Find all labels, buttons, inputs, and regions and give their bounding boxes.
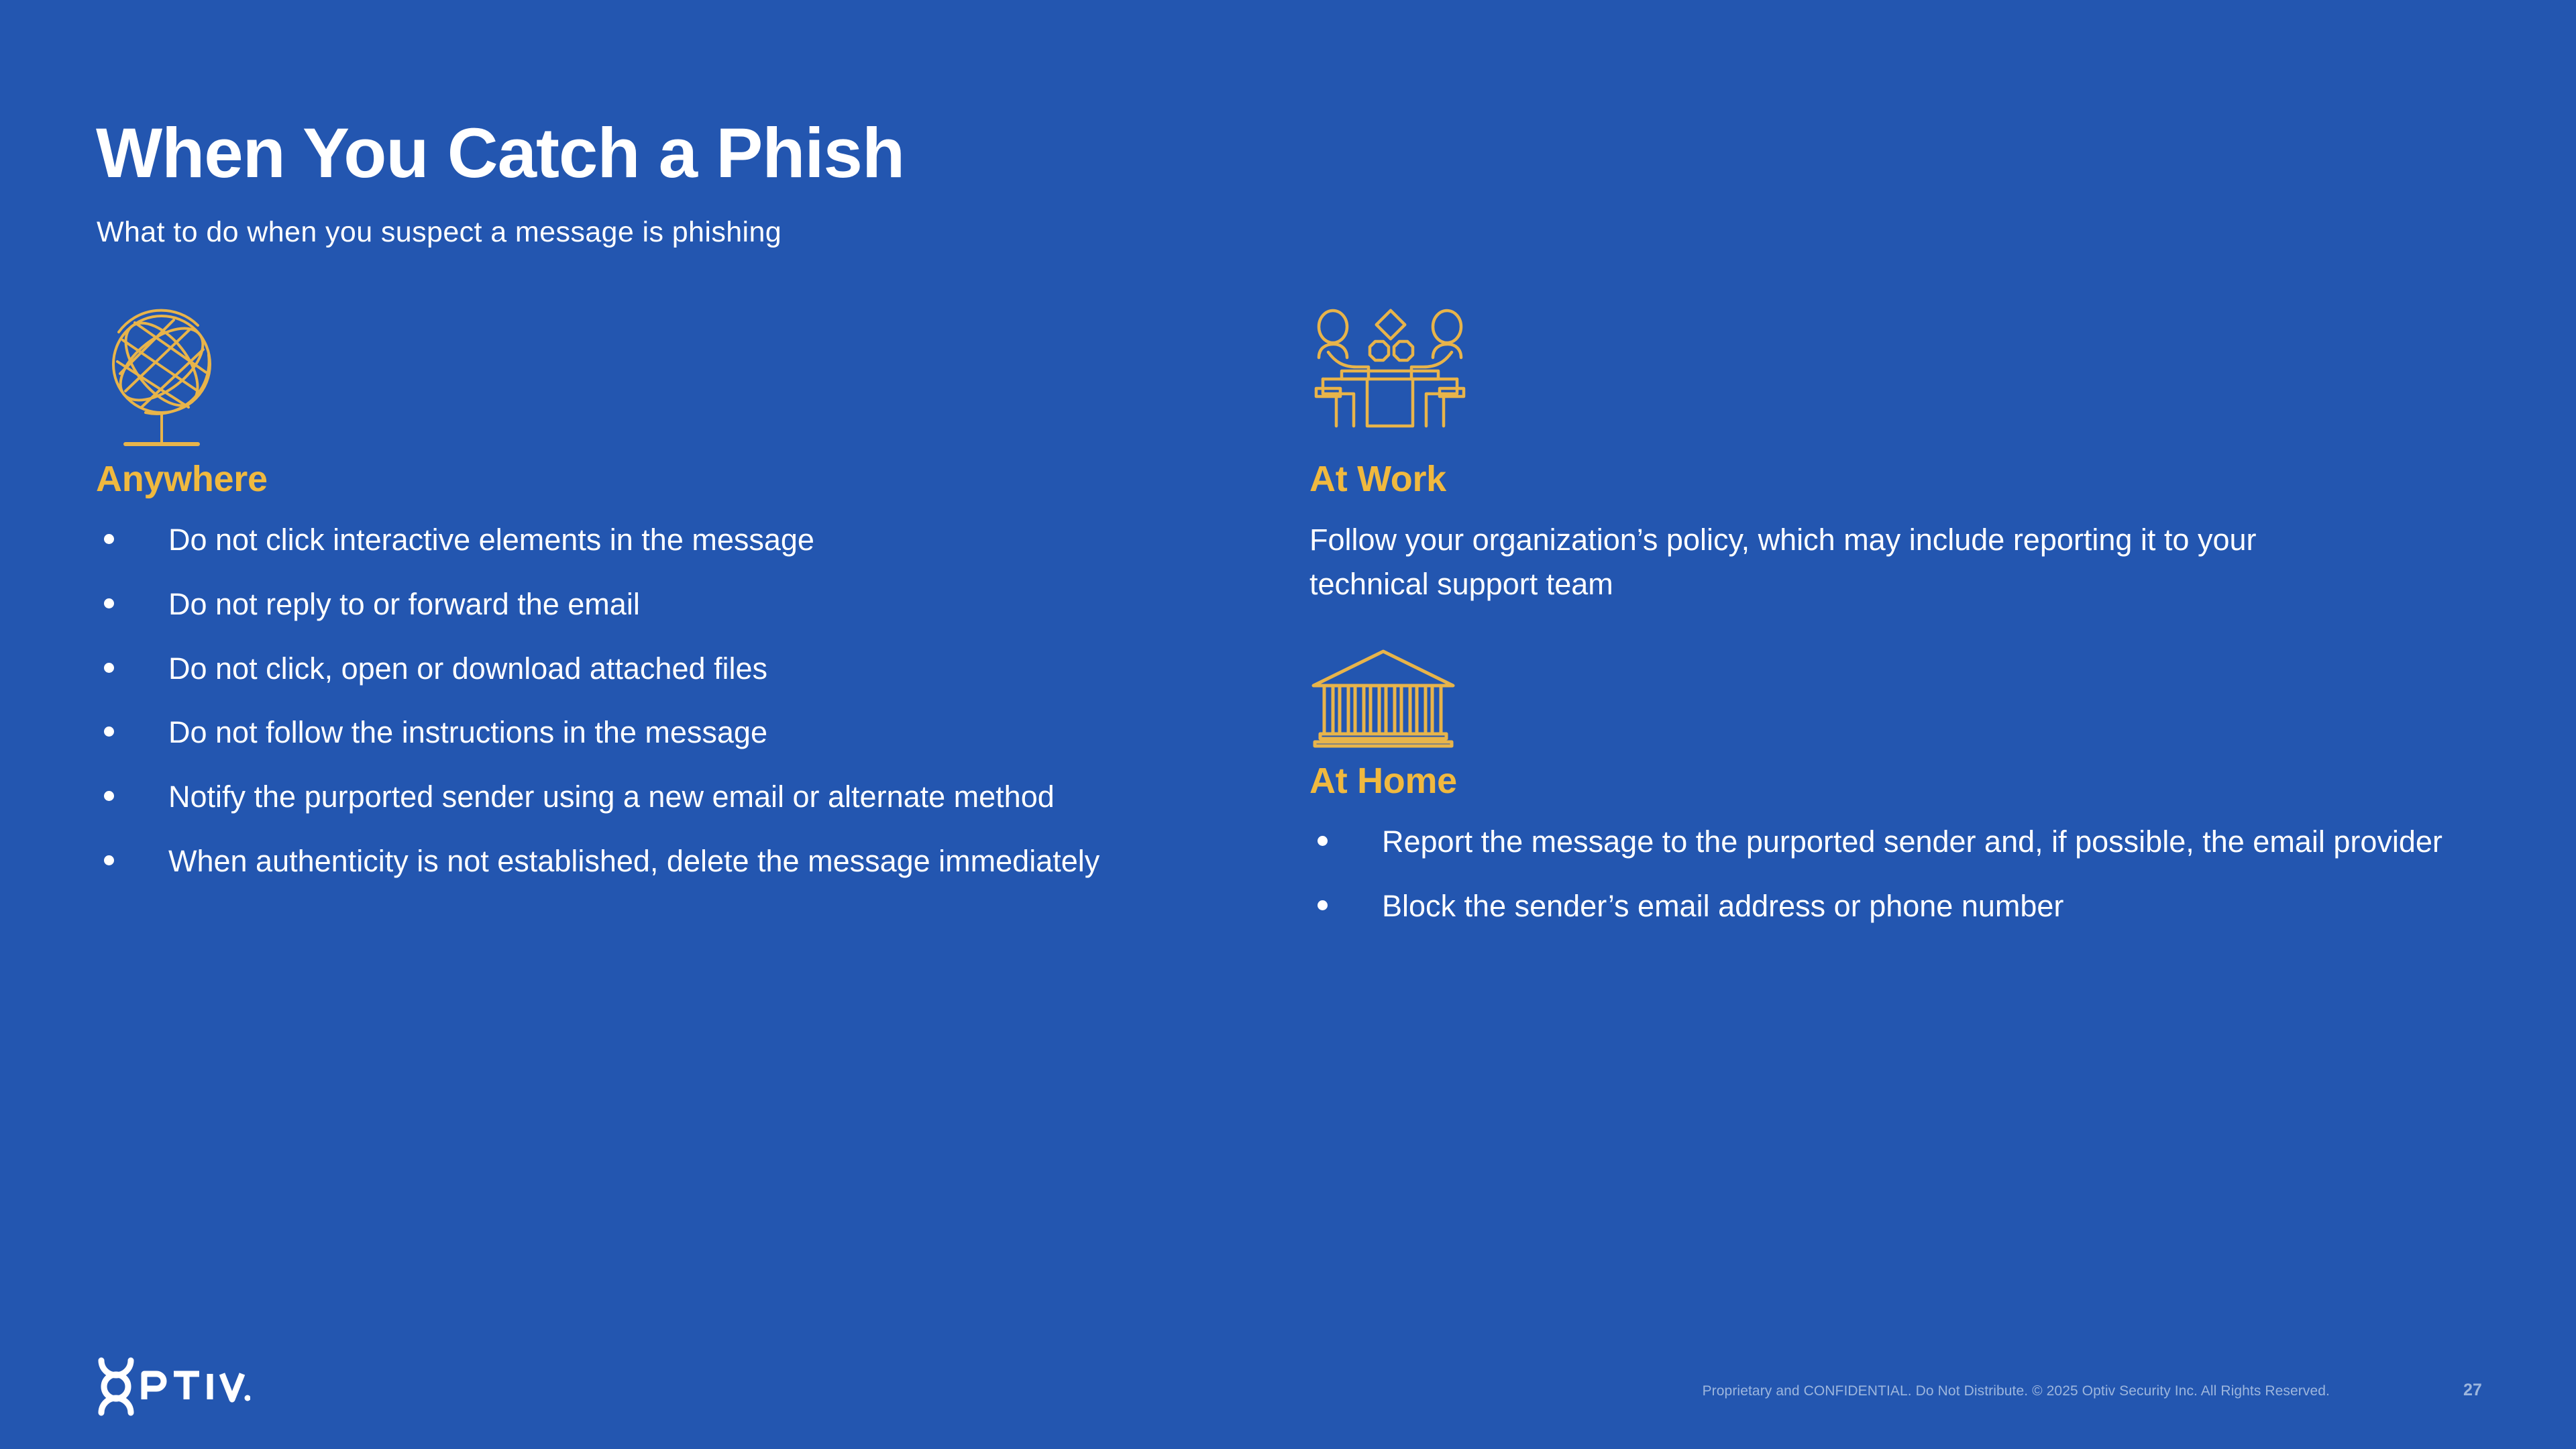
list-item-label: Block the sender’s email address or phon… xyxy=(1382,889,2063,923)
confidentiality-notice: Proprietary and CONFIDENTIAL. Do Not Dis… xyxy=(1703,1383,2330,1399)
right-column: At Work Follow your organization’s polic… xyxy=(1309,305,2463,928)
bullet-dot-icon xyxy=(1318,900,1328,910)
list-item: Do not follow the instructions in the me… xyxy=(96,710,1195,755)
list-item: Report the message to the purported send… xyxy=(1309,820,2463,864)
classical-building-icon xyxy=(1309,647,2463,761)
list-item-label: When authenticity is not established, de… xyxy=(168,844,1099,878)
bullet-dot-icon xyxy=(104,534,114,544)
slide-canvas: When You Catch a Phish What to do when y… xyxy=(0,0,2576,1449)
section-heading-at-home: At Home xyxy=(1309,761,2463,801)
optiv-logo xyxy=(96,1356,250,1417)
page-subtitle: What to do when you suspect a message is… xyxy=(97,216,782,249)
at-work-paragraph: Follow your organization’s policy, which… xyxy=(1309,518,2376,606)
list-item-label: Do not follow the instructions in the me… xyxy=(168,715,767,749)
at-home-bullet-list: Report the message to the purported send… xyxy=(1309,820,2463,928)
anywhere-bullet-list: Do not click interactive elements in the… xyxy=(96,518,1210,883)
list-item: Block the sender’s email address or phon… xyxy=(1309,884,2463,928)
list-item: Do not reply to or forward the email xyxy=(96,582,1195,627)
list-item-label: Do not click interactive elements in the… xyxy=(168,523,814,557)
list-item-label: Notify the purported sender using a new … xyxy=(168,780,1055,814)
bullet-dot-icon xyxy=(104,598,114,608)
bullet-dot-icon xyxy=(1318,836,1328,846)
list-item-label: Do not click, open or download attached … xyxy=(168,651,767,686)
bullet-dot-icon xyxy=(104,727,114,737)
bullet-dot-icon xyxy=(104,855,114,865)
list-item: When authenticity is not established, de… xyxy=(96,839,1195,883)
globe-on-stand-icon xyxy=(96,305,1210,460)
list-item: Notify the purported sender using a new … xyxy=(96,775,1195,819)
bullet-dot-icon xyxy=(104,663,114,673)
bullet-dot-icon xyxy=(104,791,114,801)
page-number: 27 xyxy=(2463,1381,2482,1400)
page-title: When You Catch a Phish xyxy=(96,117,904,191)
list-item-label: Do not reply to or forward the email xyxy=(168,587,640,621)
list-item: Do not click, open or download attached … xyxy=(96,647,1195,691)
left-column: Anywhere Do not click interactive elemen… xyxy=(96,305,1210,883)
section-heading-anywhere: Anywhere xyxy=(96,460,1210,499)
list-item-label: Report the message to the purported send… xyxy=(1382,824,2443,859)
people-at-table-icon xyxy=(1309,305,2463,460)
section-heading-at-work: At Work xyxy=(1309,460,2463,499)
list-item: Do not click interactive elements in the… xyxy=(96,518,1195,562)
